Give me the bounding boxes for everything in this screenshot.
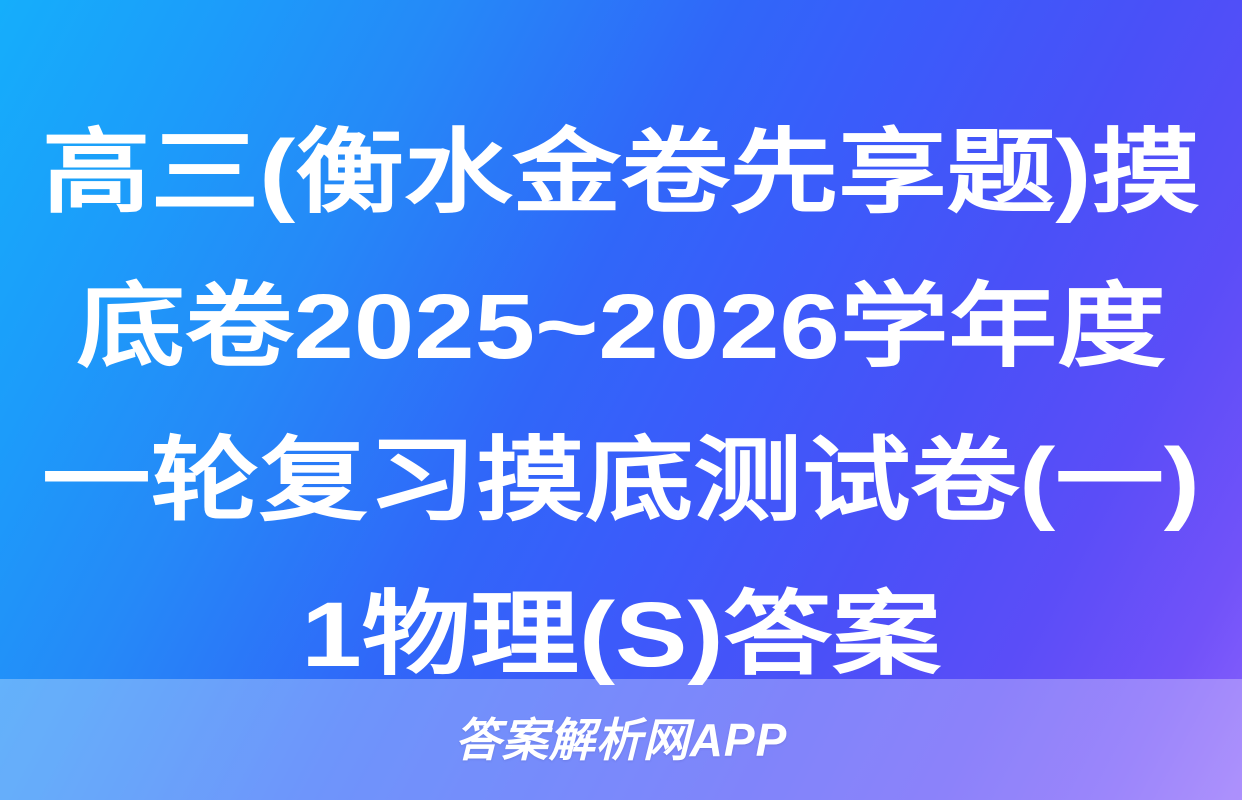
poster-canvas: 高三(衡水金卷先享题)摸 底卷2025~2026学年度 一轮复习摸底测试卷(一)… [0,0,1242,800]
title-line-3: 一轮复习摸底测试卷(一) [0,404,1242,558]
title-line-1: 高三(衡水金卷先享题)摸 [0,96,1242,250]
watermark-band: 答案解析网APP [0,679,1242,800]
title-block: 高三(衡水金卷先享题)摸 底卷2025~2026学年度 一轮复习摸底测试卷(一)… [0,96,1242,712]
watermark-label: 答案解析网APP [455,717,788,763]
title-line-2: 底卷2025~2026学年度 [0,250,1242,404]
